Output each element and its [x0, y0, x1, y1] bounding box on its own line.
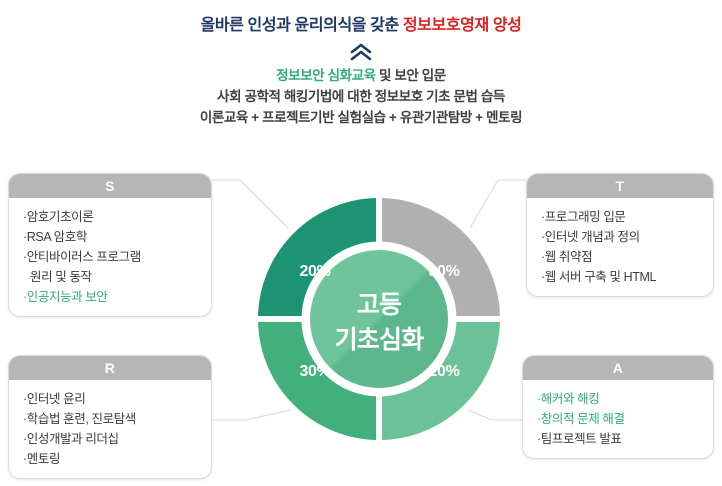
- list-item: ·프로그래밍 입문: [541, 207, 713, 227]
- donut-center-line-2: 기초심화: [335, 326, 425, 354]
- infographic-page: 올바른 인성과 윤리의식을 갖춘 정보보호영재 양성 정보보안 심화교육 및 보…: [0, 0, 722, 486]
- card-t-body: ·프로그래밍 입문 ·인터넷 개념과 정의 ·웹 취약점 ·웹 서버 구축 및 …: [527, 198, 713, 296]
- list-item: ·RSA 암호학: [23, 227, 211, 247]
- chevron-double-up-icon: [0, 42, 722, 62]
- subtitle-line-1-highlight: 정보보안 심화교육: [276, 68, 376, 83]
- list-item: ·암호기초이론: [23, 207, 211, 227]
- donut-label-r: 30%: [299, 363, 330, 380]
- list-item: ·웹 서버 구축 및 HTML: [541, 267, 713, 287]
- page-title: 올바른 인성과 윤리의식을 갖춘 정보보호영재 양성: [0, 15, 722, 36]
- list-item: ·팀프로젝트 발표: [537, 429, 713, 449]
- card-r[interactable]: R ·인터넷 윤리 ·학습법 훈련, 진로탐색 ·인성개발과 리더십 ·멘토링: [8, 355, 212, 479]
- page-title-highlight: 정보보호영재 양성: [403, 17, 522, 34]
- list-item: ·멘토링: [23, 449, 211, 469]
- donut-label-t: 30%: [428, 263, 459, 280]
- subtitle-line-1-rest: 및 보안 입문: [376, 68, 446, 83]
- page-title-primary: 올바른 인성과 윤리의식을 갖춘: [201, 17, 399, 34]
- list-item: ·안티바이러스 프로그램: [23, 247, 211, 267]
- subtitle-block: 정보보안 심화교육 및 보안 입문 사회 공학적 해킹기법에 대한 정보보호 기…: [0, 65, 722, 128]
- list-item: ·해커와 해킹: [537, 389, 713, 409]
- donut-center-disc: [310, 250, 448, 388]
- card-a-body: ·해커와 해킹 ·창의적 문제 해결 ·팀프로젝트 발표: [523, 380, 713, 458]
- subtitle-line-3: 이론교육 + 프로젝트기반 실험실습 + 유관기관탐방 + 멘토링: [0, 107, 722, 128]
- card-t-header: T: [527, 174, 713, 198]
- list-item: ·학습법 훈련, 진로탐색: [23, 409, 211, 429]
- card-s-header: S: [9, 174, 211, 198]
- list-item: ·창의적 문제 해결: [537, 409, 713, 429]
- list-item: 원리 및 동작: [23, 267, 211, 287]
- donut-center-line-1: 고등: [357, 291, 402, 319]
- list-item: ·인공지능과 보안: [23, 287, 211, 307]
- donut-chart: 20% 30% 30% 20% 고등 기초심화: [258, 198, 500, 440]
- list-item: ·인성개발과 리더십: [23, 429, 211, 449]
- card-r-body: ·인터넷 윤리 ·학습법 훈련, 진로탐색 ·인성개발과 리더십 ·멘토링: [9, 380, 211, 478]
- card-a[interactable]: A ·해커와 해킹 ·창의적 문제 해결 ·팀프로젝트 발표: [522, 355, 714, 459]
- list-item: ·인터넷 윤리: [23, 389, 211, 409]
- card-s[interactable]: S ·암호기초이론 ·RSA 암호학 ·안티바이러스 프로그램 원리 및 동작 …: [8, 173, 212, 317]
- donut-label-s: 20%: [299, 263, 330, 280]
- card-t[interactable]: T ·프로그래밍 입문 ·인터넷 개념과 정의 ·웹 취약점 ·웹 서버 구축 …: [526, 173, 714, 297]
- card-r-header: R: [9, 356, 211, 380]
- card-s-body: ·암호기초이론 ·RSA 암호학 ·안티바이러스 프로그램 원리 및 동작 ·인…: [9, 198, 211, 316]
- list-item: ·인터넷 개념과 정의: [541, 227, 713, 247]
- header: 올바른 인성과 윤리의식을 갖춘 정보보호영재 양성 정보보안 심화교육 및 보…: [0, 0, 722, 128]
- subtitle-line-2: 사회 공학적 해킹기법에 대한 정보보호 기초 문법 습득: [0, 86, 722, 107]
- donut-label-a: 20%: [428, 363, 459, 380]
- subtitle-line-1: 정보보안 심화교육 및 보안 입문: [0, 65, 722, 86]
- card-a-header: A: [523, 356, 713, 380]
- list-item: ·웹 취약점: [541, 247, 713, 267]
